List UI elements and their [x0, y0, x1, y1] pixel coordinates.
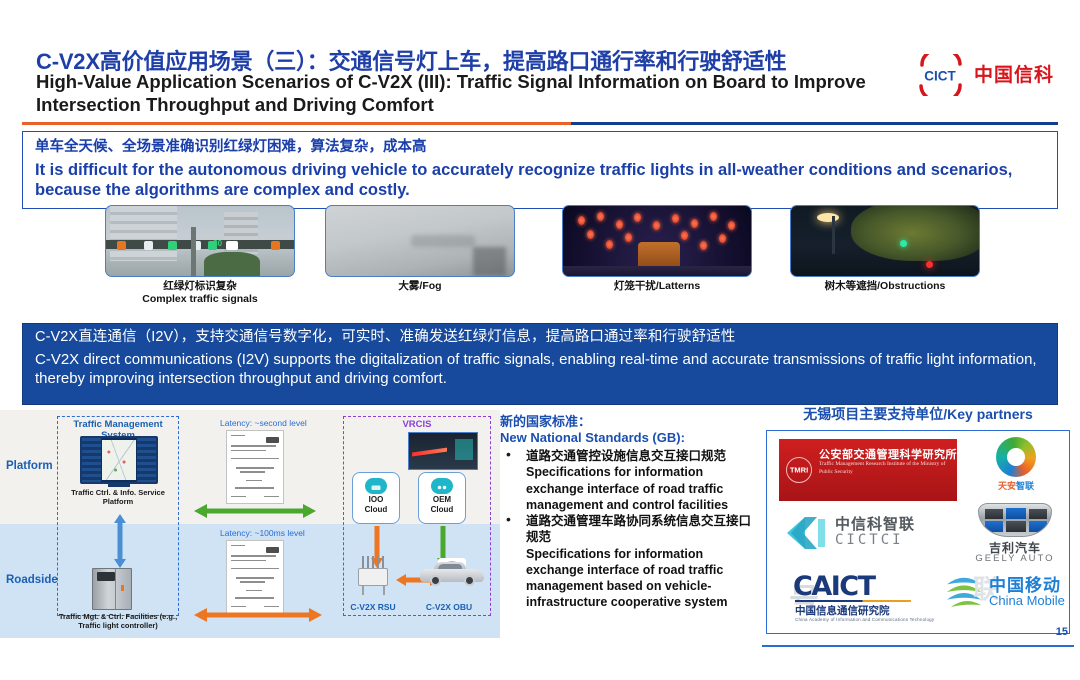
arrow-roadside-horizontal	[194, 608, 322, 622]
china-mobile-name-en: China Mobile	[989, 593, 1065, 608]
svg-text:CICT: CICT	[924, 69, 956, 84]
vrcis-road-photo	[408, 432, 478, 470]
partners-title: 无锡项目主要支持单位/Key partners	[762, 404, 1074, 424]
rsu-label: C-V2X RSU	[336, 602, 410, 613]
partner-logo-cictci: 中信科智联 CICTCI	[787, 507, 957, 563]
band-label-roadside: Roadside	[6, 574, 58, 586]
partners-logo-frame: TMRI 公安部交通管理科学研究所 Traffic Management Res…	[766, 430, 1070, 634]
partner-logo-tianan-zhilian: 天安智联	[973, 437, 1059, 499]
band-label-platform: Platform	[6, 460, 53, 472]
vrcis-title: VRCIS	[343, 419, 491, 430]
tianan-ring-icon	[996, 437, 1036, 477]
cict-logo-brand-cn: 中国信科	[974, 60, 1054, 87]
standards-list-item: 道路交通管控设施信息交互接口规范 Specifications for info…	[500, 448, 762, 513]
photo-cell-fog: 大雾/Fog	[325, 205, 515, 293]
solution-statement-box: C-V2X直连通信（I2V），支持交通信号数字化，可实时、准确发送红绿灯信息，提…	[22, 323, 1058, 405]
tmri-name-en: Traffic Management Research Institute of…	[819, 461, 949, 477]
standard-1-cn: 道路交通管控设施信息交互接口规范	[526, 448, 762, 464]
solution-text-cn: C-V2X直连通信（I2V），支持交通信号数字化，可实时、准确发送红绿灯信息，提…	[35, 328, 1045, 348]
oem-cloud-node: OEM Cloud	[418, 472, 466, 524]
page-number: 15	[1056, 626, 1068, 638]
caict-abbr: CAICT	[793, 571, 875, 602]
standards-list-item: 道路交通管理车路协同系统信息交互接口规范 Specifications for …	[500, 513, 762, 611]
standards-heading-cn: 新的国家标准：	[500, 414, 762, 430]
cict-logo: CICT 中国信科	[912, 52, 1072, 98]
ioo-cloud-node: IOO Cloud	[352, 472, 400, 524]
photo-caption-3: 灯笼干扰/Latterns	[562, 280, 752, 293]
geely-shield-icon	[978, 503, 1052, 537]
tms-monitor-icon	[80, 436, 158, 484]
photo-caption-1: 红绿灯标识复杂 Complex traffic signals	[105, 280, 295, 306]
arrow-platform-to-roadside	[114, 514, 126, 568]
footer-divider	[762, 645, 1074, 647]
cictci-mark-icon	[787, 513, 827, 553]
c-v2x-rsu-icon	[352, 556, 394, 598]
new-national-standards: 新的国家标准： New National Standards (GB): 道路交…	[500, 414, 762, 640]
header-divider	[22, 122, 1058, 125]
ioo-cloud-label: IOO Cloud	[353, 495, 399, 516]
slide-header: C-V2X高价值应用场景（三）：交通信号灯上车，提高路口通行率和行驶舒适性 Hi…	[0, 0, 1080, 118]
photo-obstructions	[790, 205, 980, 277]
architecture-diagram: Platform Roadside Traffic Management Sys…	[0, 410, 500, 638]
traffic-controller-cabinet-icon	[92, 568, 132, 610]
tmri-seal-icon: TMRI	[786, 457, 812, 483]
photo-fog	[325, 205, 515, 277]
partner-logo-caict: 号 CAICT 中国信息通信研究院 China Academy of Infor…	[787, 569, 937, 629]
photo-cell-complex-traffic-signals: 30 红绿灯标识复杂 Complex traffic signals	[105, 205, 295, 306]
example-photo-strip: 30 红绿灯标识复杂 Complex traffic signals 大雾/Fo…	[0, 205, 1080, 310]
cloud-icon	[431, 478, 453, 494]
standards-heading-en: New National Standards (GB):	[500, 430, 762, 447]
latency-label-top: Latency: ~second level	[220, 418, 307, 428]
photo-cell-lanterns: 灯笼干扰/Latterns	[562, 205, 752, 293]
gb-standard-doc-bottom	[226, 540, 284, 614]
key-partners-section: 无锡项目主要支持单位/Key partners TMRI 公安部交通管理科学研究…	[762, 404, 1074, 642]
partner-logo-geely-auto: 吉利汽车 GEELY AUTO	[965, 503, 1065, 565]
caict-name-en: China Academy of Information and Communi…	[795, 617, 934, 622]
partner-logo-tmri: TMRI 公安部交通管理科学研究所 Traffic Management Res…	[779, 439, 957, 501]
standard-2-cn: 道路交通管理车路协同系统信息交互接口规范	[526, 513, 762, 546]
c-v2x-obu-vehicle-icon	[420, 560, 484, 586]
problem-text-cn: 单车全天候、全场景准确识别红绿灯困难，算法复杂，成本高	[35, 138, 1047, 157]
tmri-name-cn: 公安部交通管理科学研究所	[819, 446, 957, 462]
partner-logo-china-mobile: 联 中国移动 China Mobile	[943, 569, 1069, 625]
page-title-en: High-Value Application Scenarios of C-V2…	[36, 70, 886, 116]
cict-logo-mark: CICT	[912, 54, 968, 96]
cloud-icon	[365, 478, 387, 494]
tianan-name-cn: 天安智联	[973, 479, 1059, 492]
gb-standard-doc-top	[226, 430, 284, 504]
arrow-platform-horizontal	[194, 504, 316, 518]
problem-statement-box: 单车全天候、全场景准确识别红绿灯困难，算法复杂，成本高 It is diffic…	[22, 131, 1058, 209]
standard-1-en: Specifications for information exchange …	[526, 464, 762, 513]
photo-caption-4: 树木等遮挡/Obstructions	[790, 280, 980, 293]
photo-lanterns	[562, 205, 752, 277]
obu-label: C-V2X OBU	[408, 602, 490, 613]
oem-cloud-label: OEM Cloud	[419, 495, 465, 516]
caict-name-cn: 中国信息通信研究院	[795, 603, 890, 618]
solution-text-en: C-V2X direct communications (I2V) suppor…	[35, 350, 1045, 389]
latency-label-bottom: Latency: ~100ms level	[220, 528, 305, 538]
cictci-name-cn: 中信科智联	[835, 513, 915, 534]
photo-caption-2: 大雾/Fog	[325, 280, 515, 293]
facility-caption: Traffic Mgt. & Ctrl. Facilities (e.g., T…	[52, 612, 184, 631]
geely-name-en: GEELY AUTO	[965, 553, 1065, 564]
cictci-name-en: CICTCI	[835, 532, 904, 548]
standard-2-en: Specifications for information exchange …	[526, 546, 762, 611]
tms-caption: Traffic Ctrl. & Info. Service Platform	[57, 488, 179, 507]
photo-complex-traffic-signals: 30	[105, 205, 295, 277]
photo-cell-obstructions: 树木等遮挡/Obstructions	[790, 205, 980, 293]
problem-text-en: It is difficult for the autonomous drivi…	[35, 160, 1047, 200]
